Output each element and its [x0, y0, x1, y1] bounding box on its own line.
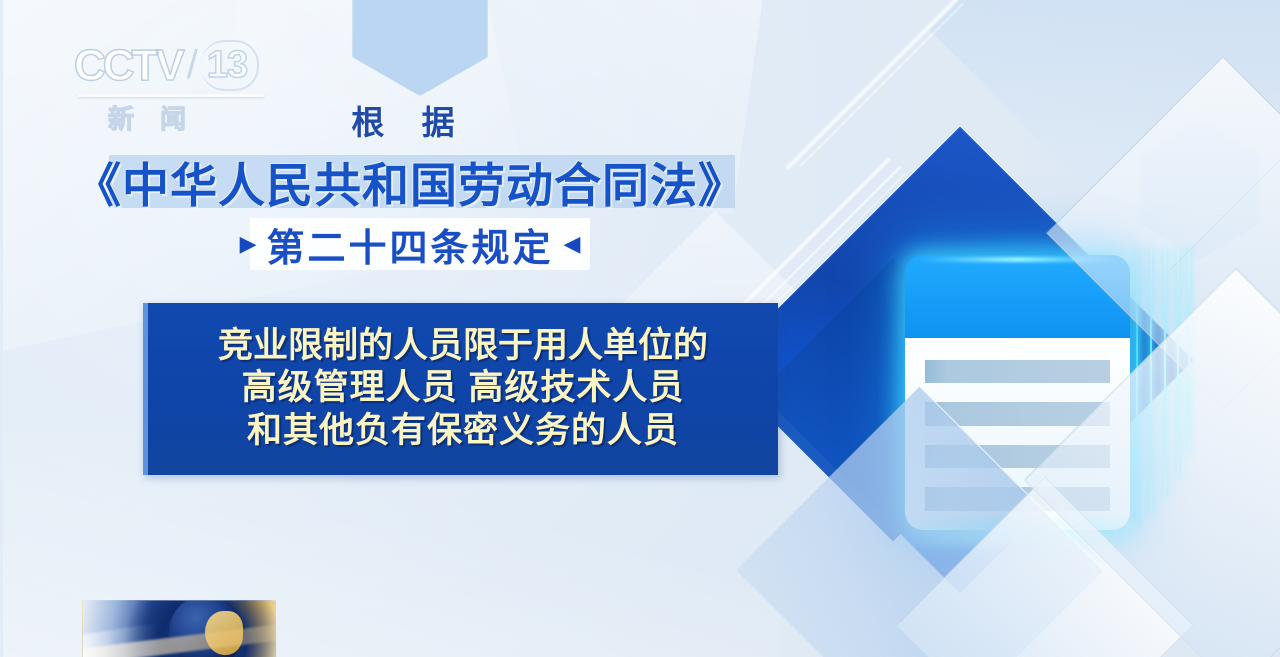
triangle-right-icon: ▶ — [240, 233, 257, 255]
statement-line: 竞业限制的人员限于用人单位的 — [218, 326, 708, 365]
law-title-band: 《中华人民共和国劳动合同法》 — [0, 152, 820, 210]
logo-wordmark-row: CCTV / 13 — [74, 40, 274, 91]
light-streak-upper-thin — [799, 3, 964, 168]
cctv-wordmark: CCTV — [74, 41, 182, 91]
statement-box: 竞业限制的人员限于用人单位的 高级管理人员 高级技术人员 和其他负有保密义务的人… — [143, 303, 778, 475]
broadcast-graphic-stage: CCTV / 13 新 闻 根 据 《中华人民共和国劳动合同法》 ▶ 第二十四条… — [0, 0, 1280, 657]
logo-slash-icon: / — [187, 43, 198, 88]
document-text-line — [925, 360, 1110, 383]
clause-band: ▶ 第二十四条规定 ◀ — [0, 218, 820, 270]
headline-block: 根 据 《中华人民共和国劳动合同法》 ▶ 第二十四条规定 ◀ — [0, 96, 820, 270]
news-globe-bug — [82, 600, 277, 657]
headline-prefix: 根 据 — [0, 96, 820, 144]
frame-left-edge — [0, 0, 3, 657]
statement-line: 高级管理人员 高级技术人员 — [242, 368, 685, 407]
clause-label: 第二十四条规定 — [266, 217, 553, 272]
channel-number: 13 — [201, 40, 259, 91]
triangle-left-icon: ◀ — [564, 233, 581, 255]
law-title: 《中华人民共和国劳动合同法》 — [74, 147, 746, 216]
statement-line: 和其他负有保密义务的人员 — [247, 411, 679, 450]
